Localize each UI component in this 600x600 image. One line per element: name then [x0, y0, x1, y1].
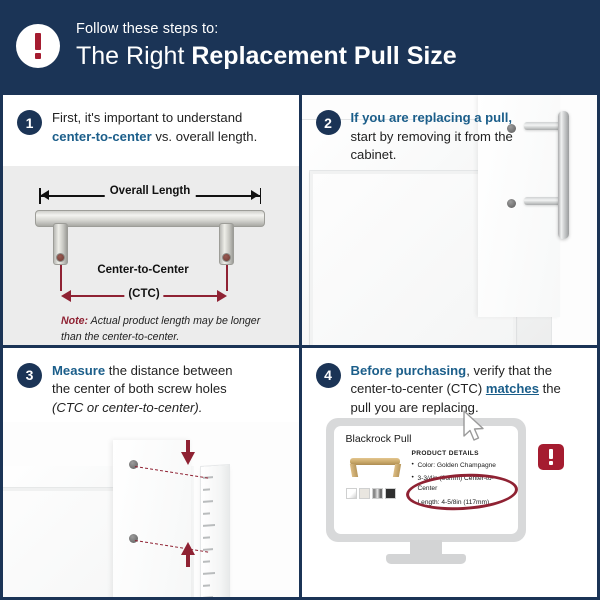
product-title: Blackrock Pull [346, 433, 412, 445]
step-2-header: 2 If you are replacing a pull, start by … [302, 95, 598, 165]
exclamation-badge-icon [538, 444, 564, 470]
product-image [346, 452, 404, 482]
ruler-icon [201, 465, 229, 597]
header-banner: Follow these steps to: The Right Replace… [0, 0, 600, 92]
screw-hole-bottom [507, 199, 516, 208]
pull-post-right [219, 223, 234, 265]
step-2-keyword: If you are replacing a pull, [351, 110, 513, 125]
product-page-monitor: Blackrock Pull PRODUCT DETAILS [326, 418, 526, 568]
step-1-line1: First, it's important to understand [52, 110, 242, 125]
step-2-number: 2 [316, 110, 341, 135]
header-text: Follow these steps to: The Right Replace… [76, 22, 457, 70]
step-panel-3: 3 Measure the distance between the cente… [3, 348, 299, 598]
steps-grid: 1 First, it's important to understand ce… [0, 92, 600, 600]
thumbnail-4[interactable] [385, 488, 396, 499]
pull-post-left [53, 223, 68, 265]
product-detail-item: Color: Golden Champagne [412, 461, 512, 471]
thumbnail-2[interactable] [359, 488, 370, 499]
step-3-keyword: Measure [52, 363, 105, 378]
monitor-base [386, 554, 466, 564]
arrow-right-icon [251, 190, 259, 200]
step-1-keyword: center-to-center [52, 129, 152, 144]
step-3-number: 3 [17, 363, 42, 388]
ctc-label: Center-to-Center [48, 264, 238, 278]
ctc-dimension: (CTC) [61, 290, 227, 302]
step-3-header: 3 Measure the distance between the cente… [3, 348, 299, 418]
measuring-photo [3, 422, 299, 598]
thumbnail-1[interactable] [346, 488, 357, 499]
step-4-number: 4 [316, 363, 341, 388]
monitor-screen: Blackrock Pull PRODUCT DETAILS [334, 426, 518, 534]
product-details-heading: PRODUCT DETAILS [412, 450, 512, 457]
title-bold: Replacement Pull Size [191, 42, 456, 70]
monitor-frame: Blackrock Pull PRODUCT DETAILS [326, 418, 526, 542]
step-1-number: 1 [17, 110, 42, 135]
step-1-header: 1 First, it's important to understand ce… [3, 95, 299, 146]
note-text: Actual product length may be longer than… [61, 315, 260, 343]
step-2-body: start by removing it from the cabinet. [351, 129, 513, 163]
arrow-right-icon [217, 290, 227, 302]
pull-dimension-diagram: Overall Length Center-to-Center (CTC) No… [3, 166, 299, 345]
arrow-up-icon [181, 542, 195, 555]
step-panel-1: 1 First, it's important to understand ce… [3, 95, 299, 345]
step-4-header: 4 Before purchasing, verify that the cen… [302, 348, 598, 418]
step-1-text: First, it's important to understand cent… [52, 109, 287, 146]
step-2-text: If you are replacing a pull, start by re… [351, 109, 519, 165]
step-4-link[interactable]: matches [486, 381, 539, 396]
thumbnail-3[interactable] [372, 488, 383, 499]
title-light: The Right [76, 42, 191, 70]
page-title: The Right Replacement Pull Size [76, 43, 457, 71]
note-label: Note: [61, 315, 88, 327]
arrow-left-icon [61, 290, 71, 302]
overall-length-dimension: Overall Length [39, 188, 261, 204]
step-1-note: Note: Actual product length may be longe… [61, 314, 261, 345]
product-thumbnails[interactable] [346, 488, 396, 499]
arrow-left-icon [41, 190, 49, 200]
header-kicker: Follow these steps to: [76, 22, 457, 38]
overall-length-label: Overall Length [105, 185, 196, 197]
step-3-text: Measure the distance between the center … [52, 362, 252, 418]
step-3-italic: (CTC or center-to-center). [52, 400, 202, 415]
ctc-label-line2: (CTC) [124, 288, 163, 300]
arrow-down-icon [181, 452, 195, 465]
infographic-page: Follow these steps to: The Right Replace… [0, 0, 600, 600]
exclamation-icon [16, 24, 60, 68]
door-stile [113, 440, 191, 598]
step-panel-4: 4 Before purchasing, verify that the cen… [302, 348, 598, 598]
step-4-keyword: Before purchasing [351, 363, 467, 378]
ctc-label-line1: Center-to-Center [97, 264, 188, 276]
step-panel-2: 2 If you are replacing a pull, start by … [302, 95, 598, 345]
step-1-line2: vs. overall length. [152, 129, 258, 144]
